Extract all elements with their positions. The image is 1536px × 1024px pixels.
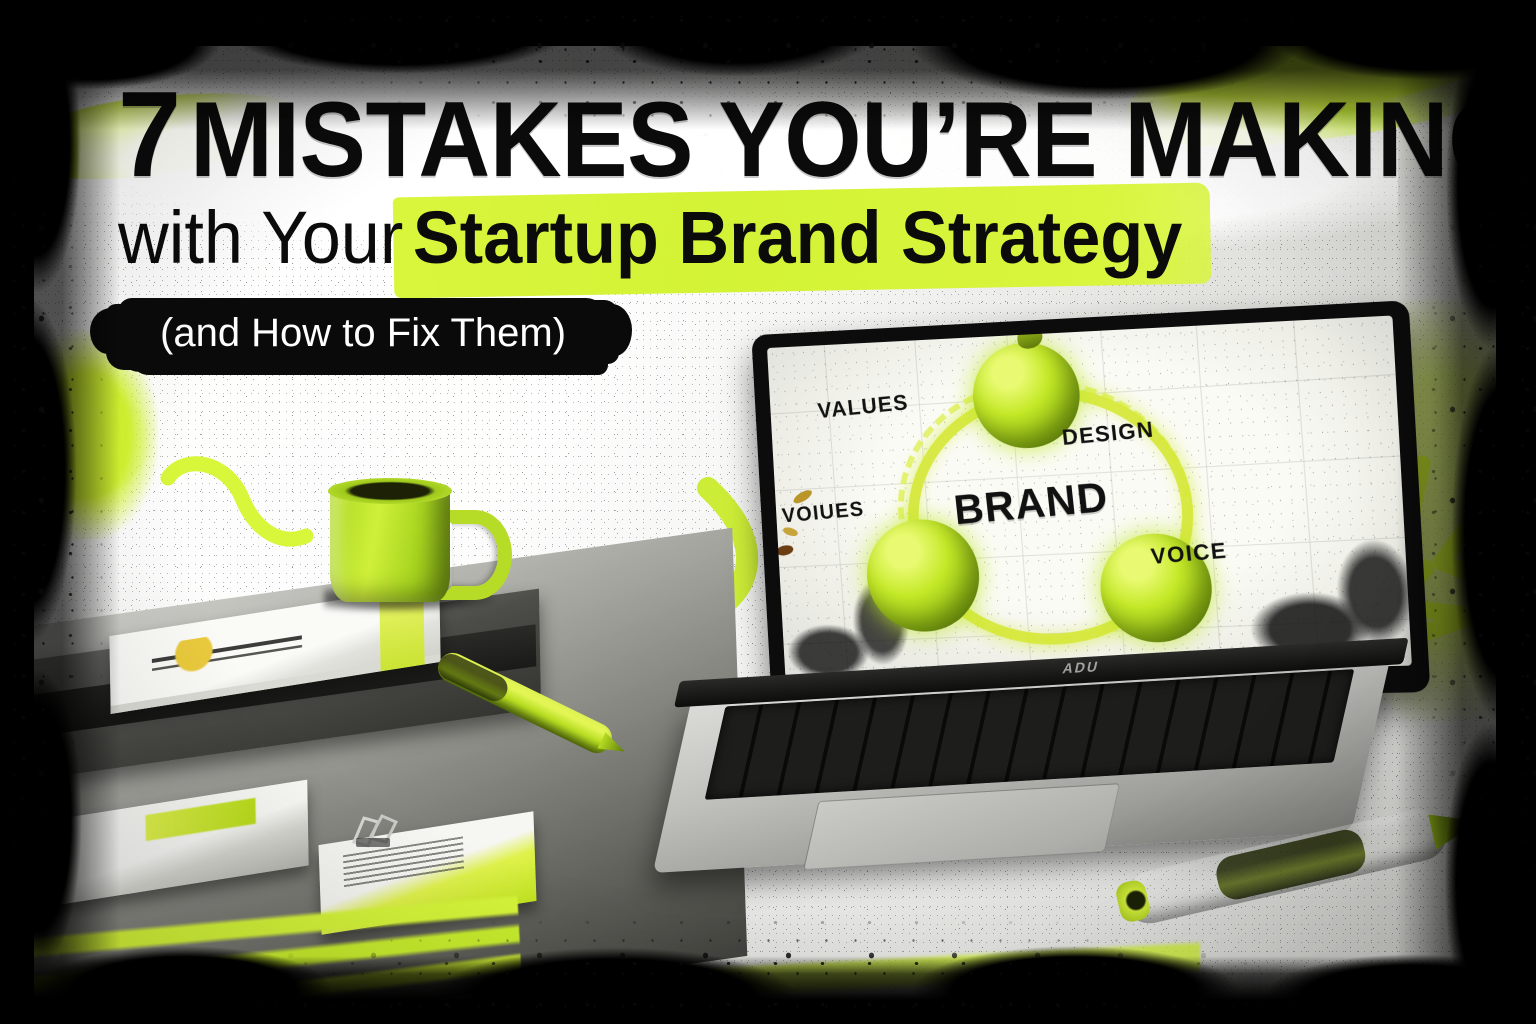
laptop: VALUES DESIGN VOICE VOIUES BRAND ADU [590, 318, 1450, 918]
coffee-mug [330, 472, 480, 602]
headline-block: 7MISTAKES YOU’RE MAKING with YourStartup… [118, 78, 1378, 372]
poster-canvas: VALUES DESIGN VOICE VOIUES BRAND ADU 7MI… [0, 0, 1536, 1024]
headline-line-2-light: with Your [118, 196, 403, 279]
card-logo-mark [152, 622, 303, 680]
headline-number: 7 [118, 66, 181, 202]
headline-line-1-text: MISTAKES YOU’RE MAKING [190, 79, 1525, 199]
headline-line-2-highlighted: Startup Brand Strategy [405, 196, 1194, 279]
subtitle-badge: (and How to Fix Them) [118, 298, 606, 372]
headline-line-2: with YourStartup Brand Strategy [118, 200, 1315, 275]
card-green-stripe [145, 798, 255, 841]
laptop-brand-logo: ADU [1060, 657, 1124, 681]
mug-rim [328, 478, 452, 504]
headline-line-1: 7MISTAKES YOU’RE MAKING [118, 78, 1290, 190]
binder-clip-icon [348, 808, 406, 852]
